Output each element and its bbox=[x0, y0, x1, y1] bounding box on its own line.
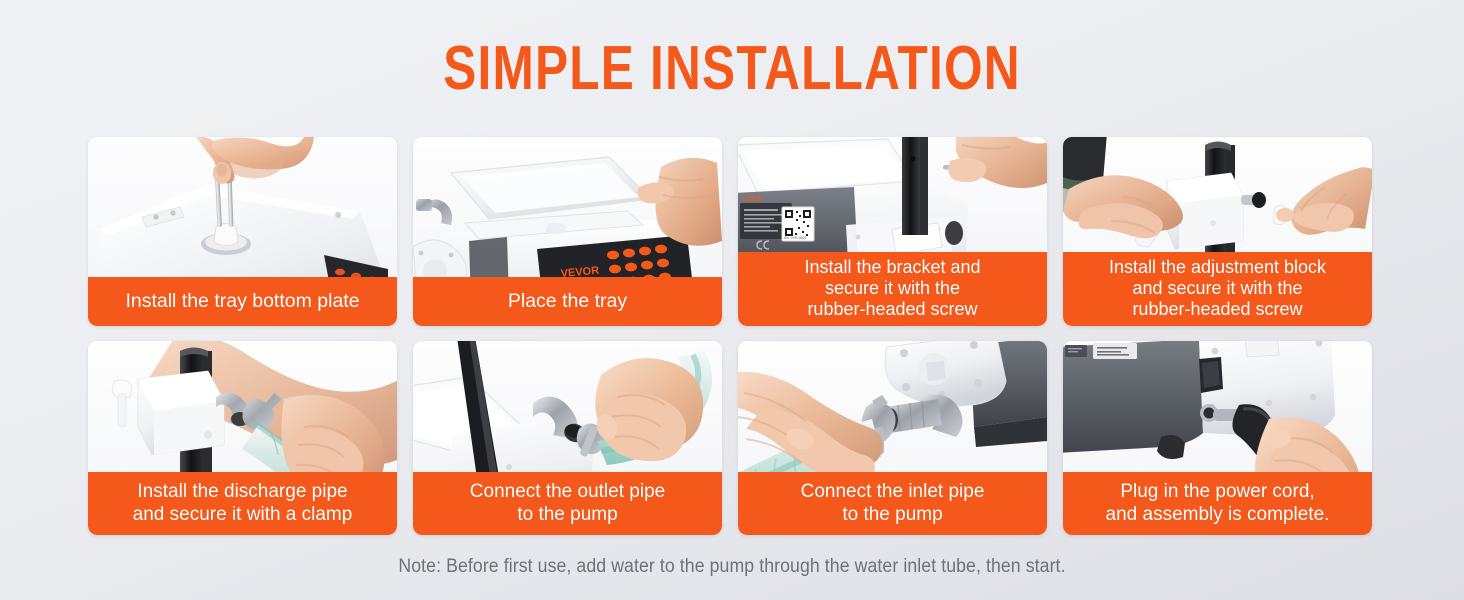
caption-line: and secure it with a clamp bbox=[133, 504, 353, 525]
step-card-5[interactable]: Install the discharge pipeand secure it … bbox=[88, 341, 397, 535]
caption-line: Connect the inlet pipe bbox=[801, 481, 985, 502]
steps-row-bottom: Install the discharge pipeand secure it … bbox=[88, 341, 1383, 535]
step-card-2[interactable]: VEVOR bbox=[413, 137, 722, 326]
step-card-6[interactable]: Connect the outlet pipeto the pump bbox=[413, 341, 722, 535]
svg-text:SN: VVR-0001: SN: VVR-0001 bbox=[784, 236, 806, 240]
step-caption-2: Place the tray bbox=[413, 277, 722, 326]
caption-line: rubber-headed screw bbox=[1132, 299, 1302, 319]
step-caption-1: Install the tray bottom plate bbox=[88, 277, 397, 326]
step-caption-7: Connect the inlet pipeto the pump bbox=[738, 472, 1047, 535]
step-caption-4: Install the adjustment blockand secure i… bbox=[1063, 252, 1372, 326]
caption-line: and assembly is complete. bbox=[1106, 504, 1330, 525]
caption-line: to the pump bbox=[842, 504, 942, 525]
svg-text:VEVOR: VEVOR bbox=[742, 197, 764, 203]
caption-line: secure it with the bbox=[825, 278, 960, 298]
caption-line: Plug in the power cord, bbox=[1120, 481, 1314, 502]
step-card-7[interactable]: Connect the inlet pipeto the pump bbox=[738, 341, 1047, 535]
caption-line: Install the adjustment block bbox=[1109, 257, 1326, 277]
caption-line: Install the discharge pipe bbox=[137, 481, 347, 502]
installation-infographic: SIMPLE INSTALLATION bbox=[0, 0, 1464, 600]
step-caption-5: Install the discharge pipeand secure it … bbox=[88, 472, 397, 535]
steps-grid: Install the tray bottom plate bbox=[88, 137, 1383, 535]
caption-line: Connect the outlet pipe bbox=[470, 481, 665, 502]
caption-line: to the pump bbox=[517, 504, 617, 525]
caption-line: and secure it with the bbox=[1132, 278, 1302, 298]
caption-line: Install the bracket and bbox=[804, 257, 980, 277]
footer-note: Note: Before first use, add water to the… bbox=[51, 556, 1413, 578]
steps-row-top: Install the tray bottom plate bbox=[88, 137, 1383, 326]
step-caption-6: Connect the outlet pipeto the pump bbox=[413, 472, 722, 535]
step-card-8[interactable]: Plug in the power cord,and assembly is c… bbox=[1063, 341, 1372, 535]
step-caption-3: Install the bracket andsecure it with th… bbox=[738, 252, 1047, 326]
step-caption-8: Plug in the power cord,and assembly is c… bbox=[1063, 472, 1372, 535]
page-title: SIMPLE INSTALLATION bbox=[146, 36, 1317, 102]
caption-line: rubber-headed screw bbox=[807, 299, 977, 319]
step-card-3[interactable]: VEVOR bbox=[738, 137, 1047, 326]
step-card-4[interactable]: Install the adjustment blockand secure i… bbox=[1063, 137, 1372, 326]
step-card-1[interactable]: Install the tray bottom plate bbox=[88, 137, 397, 326]
